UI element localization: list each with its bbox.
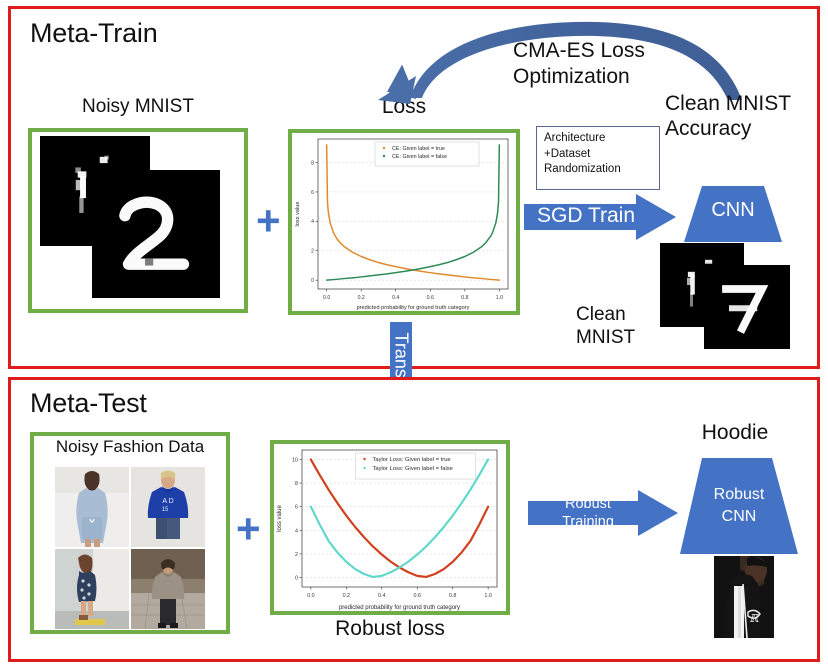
svg-text:ℝ: ℝ [749, 613, 759, 625]
svg-text:15: 15 [162, 507, 169, 513]
clean-mnist-accuracy-label: Clean MNIST Accuracy [665, 92, 815, 142]
svg-text:4: 4 [295, 528, 298, 534]
svg-text:1.0: 1.0 [496, 295, 503, 301]
robust-loss-chart-svg: 0.00.20.40.60.81.00246810predicted proba… [274, 444, 506, 611]
svg-text:8: 8 [311, 160, 314, 166]
cma-es-label-line1: CMA-ES Loss [513, 38, 703, 64]
mnist-tile-front [92, 170, 220, 298]
plus-operator-train: + [256, 200, 281, 242]
robust-training-label: Robust Training [528, 495, 648, 531]
noisy-mnist-panel [28, 128, 248, 313]
meta-test-title: Meta-Test [30, 388, 147, 419]
robust-cnn-label: Robust CNN [680, 484, 798, 527]
svg-text:0.6: 0.6 [413, 593, 421, 599]
architecture-randomization-box: Architecture +Dataset Randomization [536, 126, 660, 190]
svg-text:10: 10 [292, 457, 298, 463]
clean-mnist-line1: Clean [576, 304, 676, 327]
hoodie-photo: ℝ [714, 556, 774, 638]
noisy-fashion-label: Noisy Fashion Data [30, 437, 230, 457]
svg-text:0.0: 0.0 [307, 593, 315, 599]
svg-text:0.2: 0.2 [343, 593, 351, 599]
svg-text:8: 8 [295, 481, 298, 487]
robust-loss-chart-panel: 0.00.20.40.60.81.00246810predicted proba… [270, 440, 510, 615]
fashion-photo-1 [55, 467, 129, 547]
svg-text:2: 2 [311, 249, 314, 255]
svg-text:1.0: 1.0 [484, 593, 492, 599]
svg-text:CE: Given label = true: CE: Given label = true [392, 146, 445, 152]
svg-text:2: 2 [295, 552, 298, 558]
svg-text:Taylor Loss: Given label = tru: Taylor Loss: Given label = true [373, 457, 451, 463]
clean-mnist-tile-front [704, 265, 790, 349]
noisy-mnist-image-stack [32, 132, 244, 309]
clean-mnist-accuracy-line2: Accuracy [665, 117, 815, 142]
sgd-train-label: SGD Train [524, 204, 648, 228]
robust-training-line2: Training [528, 513, 648, 531]
ce-loss-chart-panel: 0.00.20.40.60.81.002468predicted probabi… [288, 129, 520, 315]
diagram-root: Meta-Train Noisy MNIST [0, 0, 828, 668]
robust-cnn-line2: CNN [680, 506, 798, 528]
ce-loss-chart-svg: 0.00.20.40.60.81.002468predicted probabi… [292, 133, 516, 311]
svg-text:0: 0 [311, 278, 314, 284]
clean-mnist-line2: MNIST [576, 327, 676, 350]
svg-text:loss value: loss value [277, 505, 283, 532]
svg-text:0: 0 [295, 575, 298, 581]
robust-cnn-line1: Robust [680, 484, 798, 506]
cnn-label: CNN [684, 199, 782, 222]
clean-mnist-label: Clean MNIST [576, 304, 676, 350]
svg-text:0.0: 0.0 [323, 295, 330, 301]
ce-loss-chart: 0.00.20.40.60.81.002468predicted probabi… [292, 133, 516, 311]
cma-es-label-line2: Optimization [513, 64, 703, 90]
svg-text:6: 6 [295, 505, 298, 511]
robust-training-line1: Robust [528, 495, 648, 513]
clean-mnist-image-stack [660, 243, 790, 349]
plus-operator-test: + [236, 508, 261, 550]
clean-mnist-accuracy-line1: Clean MNIST [665, 92, 815, 117]
svg-text:6: 6 [311, 190, 314, 196]
svg-text:0.8: 0.8 [461, 295, 468, 301]
svg-text:Taylor Loss: Given label = fal: Taylor Loss: Given label = false [373, 466, 453, 472]
svg-text:0.2: 0.2 [358, 295, 365, 301]
architecture-line2: +Dataset [544, 147, 652, 163]
fashion-photo-2: A D 15 [131, 467, 205, 547]
fashion-photo-3 [55, 549, 129, 629]
svg-text:4: 4 [311, 219, 314, 225]
robust-loss-label: Robust loss [270, 617, 510, 641]
svg-text:A D: A D [162, 498, 173, 505]
architecture-line1: Architecture [544, 131, 652, 147]
svg-text:0.4: 0.4 [392, 295, 399, 301]
svg-text:0.6: 0.6 [427, 295, 434, 301]
robust-loss-chart: 0.00.20.40.60.81.00246810predicted proba… [274, 444, 506, 611]
meta-train-title: Meta-Train [30, 18, 158, 49]
hoodie-label: Hoodie [660, 421, 810, 445]
noisy-mnist-label: Noisy MNIST [28, 96, 248, 118]
svg-text:0.8: 0.8 [449, 593, 457, 599]
cma-es-label: CMA-ES Loss Optimization [513, 38, 703, 89]
svg-text:0.4: 0.4 [378, 593, 386, 599]
svg-text:predicted probability for grou: predicted probability for ground truth c… [357, 305, 470, 311]
svg-text:predicted probability for grou: predicted probability for ground truth c… [339, 605, 460, 611]
fashion-photo-4 [131, 549, 205, 629]
architecture-line3: Randomization [544, 162, 652, 178]
svg-text:CE: Given label = false: CE: Given label = false [392, 154, 447, 160]
svg-text:loss value: loss value [295, 202, 301, 227]
